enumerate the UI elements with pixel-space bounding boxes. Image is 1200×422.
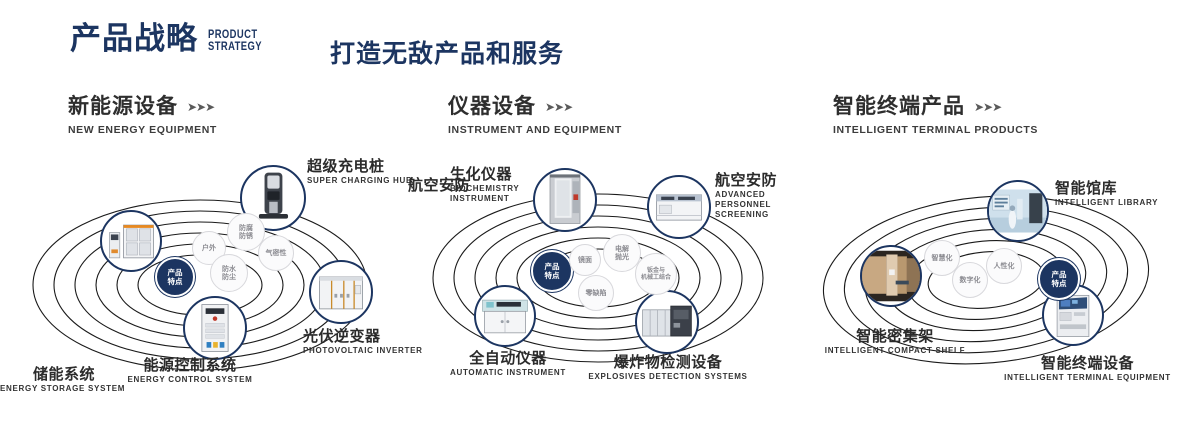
- bubble-feature-0: 镜面: [569, 244, 601, 276]
- section-header-intelligent-terminal: 智能终端产品 ➤➤➤ INTELLIGENT TERMINAL PRODUCTS: [833, 96, 1038, 136]
- node-automatic-instrument[interactable]: [474, 285, 536, 347]
- label-en: ADVANCED PERSONNEL SCREENING: [715, 190, 793, 220]
- label-en: ENERGY CONTROL SYSTEM: [75, 375, 305, 385]
- chevron-right-icon: ➤➤➤: [545, 100, 572, 114]
- core-line1: 产品: [168, 268, 183, 277]
- bubble-feature-1: 数字化: [952, 262, 988, 298]
- label-en: INTELLIGENT LIBRARY: [1055, 198, 1158, 208]
- section-title-cn: 新能源设备: [68, 96, 178, 117]
- page-title-en: PRODUCT STRATEGY: [208, 29, 262, 53]
- section-title-cn: 智能终端产品: [833, 96, 965, 117]
- label-cn: 全自动仪器: [413, 350, 603, 367]
- node-intelligent-compact-shelf[interactable]: [860, 245, 922, 307]
- node-biochemistry-instrument[interactable]: [533, 168, 597, 232]
- chevron-right-icon: ➤➤➤: [974, 100, 1001, 114]
- label-intelligent-compact-shelf: 智能密集架 INTELLIGENT COMPACT SHELF: [765, 328, 1025, 356]
- page-title-cn: 产品战略: [70, 24, 198, 55]
- bubble-feature-2: 钣金与 机械工结合: [635, 253, 677, 295]
- node-energy-control-system[interactable]: [183, 296, 247, 360]
- label-cn: 航空安防: [715, 172, 793, 189]
- cluster-instrument: 生化仪器 BIOCHEMISTRY INSTRUMENT 航空安防 航空安防 A…: [398, 150, 798, 412]
- node-intelligent-library[interactable]: [987, 180, 1049, 242]
- label-en: AUTOMATIC INSTRUMENT: [413, 368, 603, 378]
- page-title-en-line2: STRATEGY: [208, 41, 262, 53]
- label-super-charging-hub: 超级充电桩 SUPER CHARGING HUB: [307, 158, 413, 186]
- bubble-feature-2: 人性化: [986, 248, 1022, 284]
- label-aviation-security-extra: 航空安防: [408, 177, 470, 194]
- section-title-en: NEW ENERGY EQUIPMENT: [68, 124, 217, 136]
- label-cn: 能源控制系统: [75, 357, 305, 374]
- library-room-icon: [989, 182, 1047, 240]
- label-cn: 智能密集架: [765, 328, 1025, 345]
- section-header-new-energy: 新能源设备 ➤➤➤ NEW ENERGY EQUIPMENT: [68, 96, 217, 136]
- core-line2: 特点: [1052, 279, 1067, 288]
- node-pv-inverter[interactable]: [309, 260, 373, 324]
- core-line1: 产品: [1052, 270, 1067, 279]
- explosive-detector-icon: [637, 292, 697, 352]
- pv-inverter-icon: [311, 262, 371, 322]
- bubble-feature-3: 零缺陷: [578, 275, 614, 311]
- label-cn: 航空安防: [408, 177, 470, 194]
- screening-machine-icon: [649, 177, 709, 237]
- bubble-feature-3: 气密性: [258, 235, 294, 271]
- cluster-new-energy: 储能系统 ENERGY STORAGE SYSTEM 超级充电桩 SUPER C…: [0, 150, 400, 412]
- page-title-en-line1: PRODUCT: [208, 29, 262, 41]
- battery-cabinet-icon: [102, 212, 160, 270]
- label-intelligent-terminal-equipment: 智能终端设备 INTELLIGENT TERMINAL EQUIPMENT: [985, 355, 1190, 383]
- bubble-core-features: 产品特点: [155, 257, 195, 297]
- node-explosives-detection[interactable]: [635, 290, 699, 354]
- control-cabinet-icon: [185, 298, 245, 358]
- label-en: INTELLIGENT COMPACT SHELF: [815, 346, 975, 356]
- node-energy-storage[interactable]: [100, 210, 162, 272]
- cluster-intelligent-terminal: 智能馆库 INTELLIGENT LIBRARY 智能终端设备 INTELLIG…: [790, 150, 1190, 412]
- node-personnel-screening[interactable]: [647, 175, 711, 239]
- poster-stage: 产品战略 PRODUCT STRATEGY 打造无敌产品和服务 新能源设备 ➤➤…: [0, 0, 1200, 422]
- section-title-cn: 仪器设备: [448, 96, 536, 117]
- label-automatic-instrument: 全自动仪器 AUTOMATIC INSTRUMENT: [413, 350, 603, 378]
- core-line1: 产品: [545, 262, 560, 271]
- label-personnel-screening: 航空安防 ADVANCED PERSONNEL SCREENING: [715, 172, 793, 220]
- label-cn: 智能终端设备: [985, 355, 1190, 372]
- label-cn: 超级充电桩: [307, 158, 413, 175]
- section-title-en: INSTRUMENT AND EQUIPMENT: [448, 124, 622, 136]
- label-cn: 智能馆库: [1055, 180, 1158, 197]
- label-energy-control-system: 能源控制系统 ENERGY CONTROL SYSTEM: [75, 357, 305, 385]
- label-en: INTELLIGENT TERMINAL EQUIPMENT: [985, 373, 1190, 383]
- section-header-instrument: 仪器设备 ➤➤➤ INSTRUMENT AND EQUIPMENT: [448, 96, 622, 136]
- chevron-right-icon: ➤➤➤: [187, 100, 214, 114]
- bubble-feature-2: 防水 防尘: [210, 254, 248, 292]
- section-title-en: INTELLIGENT TERMINAL PRODUCTS: [833, 124, 1038, 136]
- auto-instrument-icon: [476, 287, 534, 345]
- label-intelligent-library: 智能馆库 INTELLIGENT LIBRARY: [1055, 180, 1158, 208]
- compact-shelf-icon: [862, 247, 920, 305]
- bubble-core-features: 产品特点: [531, 250, 573, 292]
- bubble-core-features: 产品特点: [1038, 258, 1080, 300]
- bio-analyzer-icon: [535, 170, 595, 230]
- page-subtitle: 打造无敌产品和服务: [330, 34, 564, 70]
- core-line2: 特点: [545, 271, 560, 280]
- page-title: 产品战略 PRODUCT STRATEGY: [70, 24, 274, 55]
- core-line2: 特点: [168, 277, 183, 286]
- label-en: SUPER CHARGING HUB: [307, 176, 413, 186]
- label-en: ENERGY STORAGE SYSTEM: [0, 384, 95, 394]
